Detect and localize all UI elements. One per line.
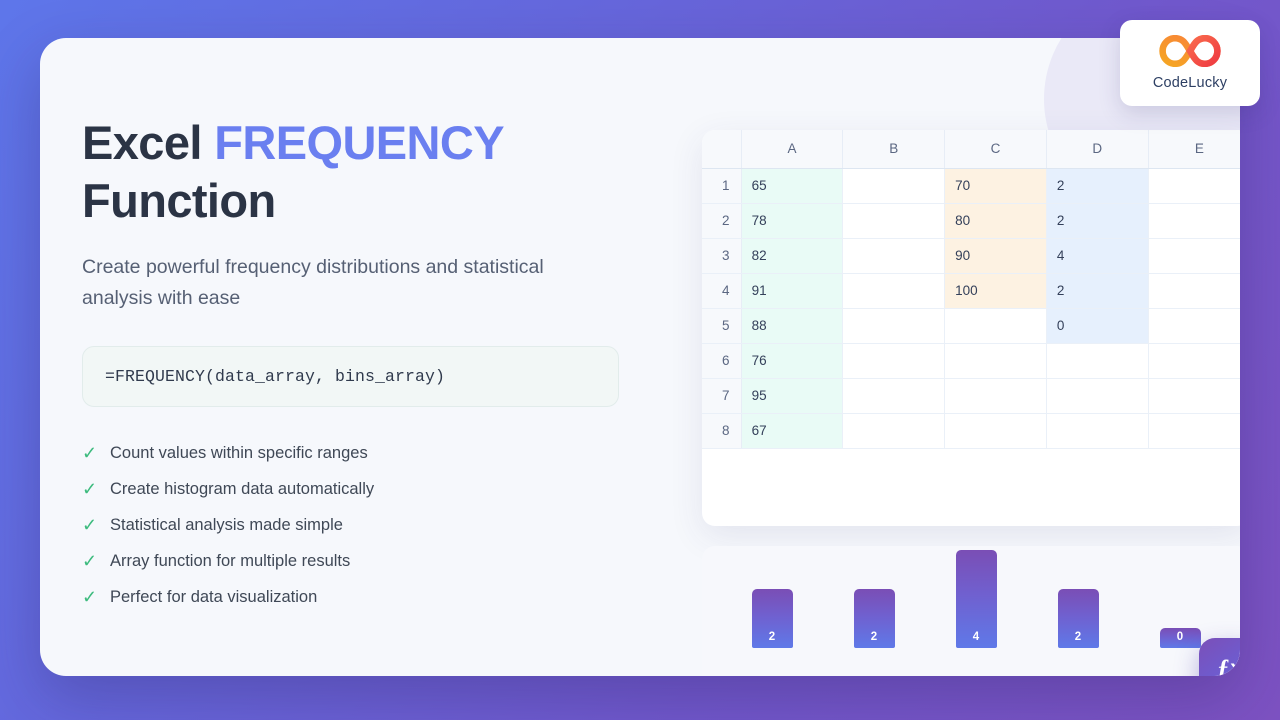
cell-e7[interactable] — [1148, 378, 1240, 413]
column-header-d[interactable]: D — [1046, 130, 1148, 168]
cell-a3[interactable]: 82 — [741, 238, 843, 273]
cell-c6[interactable] — [945, 343, 1047, 378]
table-row: 4 91 100 2 — [702, 273, 1240, 308]
row-header[interactable]: 5 — [702, 308, 741, 343]
feature-label: Statistical analysis made simple — [110, 516, 343, 535]
cell-e5[interactable] — [1148, 308, 1240, 343]
brand-badge[interactable]: CodeLucky — [1120, 20, 1260, 106]
cell-d2[interactable]: 2 — [1046, 203, 1148, 238]
cell-c8[interactable] — [945, 413, 1047, 448]
check-icon: ✓ — [82, 552, 96, 570]
chart-bar[interactable]: 2 — [854, 589, 895, 648]
cell-a1[interactable]: 65 — [741, 168, 843, 203]
cell-b8[interactable] — [843, 413, 945, 448]
chart-bar[interactable]: 4 — [956, 550, 997, 648]
table-row: 7 95 — [702, 378, 1240, 413]
row-header[interactable]: 8 — [702, 413, 741, 448]
feature-item-1: ✓ Count values within specific ranges — [82, 435, 662, 471]
cell-c5[interactable] — [945, 308, 1047, 343]
cell-c7[interactable] — [945, 378, 1047, 413]
feature-label: Count values within specific ranges — [110, 444, 368, 463]
fx-f-glyph: ƒ — [1217, 656, 1230, 676]
sheet-corner-cell[interactable] — [702, 130, 741, 168]
column-header-a[interactable]: A — [741, 130, 843, 168]
row-header[interactable]: 3 — [702, 238, 741, 273]
column-header-e[interactable]: E — [1148, 130, 1240, 168]
table-row: 1 65 70 2 — [702, 168, 1240, 203]
infinity-logo-icon — [1159, 35, 1221, 72]
hero-subtitle: Create powerful frequency distributions … — [82, 252, 612, 314]
cell-e3[interactable] — [1148, 238, 1240, 273]
cell-d6[interactable] — [1046, 343, 1148, 378]
bar-value-label: 2 — [1058, 631, 1099, 643]
cell-b4[interactable] — [843, 273, 945, 308]
table-row: 8 67 — [702, 413, 1240, 448]
cell-a4[interactable]: 91 — [741, 273, 843, 308]
check-icon: ✓ — [82, 480, 96, 498]
feature-label: Array function for multiple results — [110, 552, 350, 571]
cell-d8[interactable] — [1046, 413, 1148, 448]
column-header-c[interactable]: C — [945, 130, 1047, 168]
row-header[interactable]: 4 — [702, 273, 741, 308]
cell-d5[interactable]: 0 — [1046, 308, 1148, 343]
cell-d4[interactable]: 2 — [1046, 273, 1148, 308]
feature-item-3: ✓ Statistical analysis made simple — [82, 507, 662, 543]
check-icon: ✓ — [82, 444, 96, 462]
feature-item-2: ✓ Create histogram data automatically — [82, 471, 662, 507]
page-title-rest: Function — [82, 174, 276, 227]
spreadsheet-table[interactable]: A B C D E 1 65 70 2 2 78 — [702, 130, 1240, 449]
cell-d3[interactable]: 4 — [1046, 238, 1148, 273]
bar-value-label: 2 — [752, 631, 793, 643]
page-title-plain: Excel — [82, 116, 214, 169]
column-header-row: A B C D E — [702, 130, 1240, 168]
table-row: 3 82 90 4 — [702, 238, 1240, 273]
cell-a2[interactable]: 78 — [741, 203, 843, 238]
cell-c2[interactable]: 80 — [945, 203, 1047, 238]
cell-b3[interactable] — [843, 238, 945, 273]
cell-e8[interactable] — [1148, 413, 1240, 448]
histogram-chart-panel: 2 2 4 2 0 — [702, 546, 1240, 676]
cell-e2[interactable] — [1148, 203, 1240, 238]
hero-text-column: Excel FREQUENCYFunction Create powerful … — [82, 114, 662, 615]
row-header[interactable]: 1 — [702, 168, 741, 203]
brand-name: CodeLucky — [1153, 75, 1227, 91]
formula-code-box: =FREQUENCY(data_array, bins_array) — [82, 346, 619, 407]
chart-plot-area: 2 2 4 2 0 — [702, 550, 1240, 648]
chart-bar[interactable]: 2 — [1058, 589, 1099, 648]
cell-e4[interactable] — [1148, 273, 1240, 308]
spreadsheet-panel[interactable]: A B C D E 1 65 70 2 2 78 — [702, 130, 1240, 526]
cell-a5[interactable]: 88 — [741, 308, 843, 343]
cell-e6[interactable] — [1148, 343, 1240, 378]
fx-x-glyph: x — [1230, 658, 1240, 676]
feature-item-5: ✓ Perfect for data visualization — [82, 579, 662, 615]
cell-d7[interactable] — [1046, 378, 1148, 413]
cell-b2[interactable] — [843, 203, 945, 238]
page-title: Excel FREQUENCYFunction — [82, 114, 662, 230]
table-row: 2 78 80 2 — [702, 203, 1240, 238]
table-row: 6 76 — [702, 343, 1240, 378]
chart-bar[interactable]: 2 — [752, 589, 793, 648]
column-header-b[interactable]: B — [843, 130, 945, 168]
table-row: 5 88 0 — [702, 308, 1240, 343]
bar-value-label: 4 — [956, 631, 997, 643]
cell-b7[interactable] — [843, 378, 945, 413]
cell-b1[interactable] — [843, 168, 945, 203]
check-icon: ✓ — [82, 516, 96, 534]
hero-card: Excel FREQUENCYFunction Create powerful … — [40, 38, 1240, 676]
page-title-accent: FREQUENCY — [214, 116, 504, 169]
row-header[interactable]: 7 — [702, 378, 741, 413]
cell-b6[interactable] — [843, 343, 945, 378]
row-header[interactable]: 6 — [702, 343, 741, 378]
cell-b5[interactable] — [843, 308, 945, 343]
cell-c1[interactable]: 70 — [945, 168, 1047, 203]
check-icon: ✓ — [82, 588, 96, 606]
feature-label: Create histogram data automatically — [110, 480, 374, 499]
cell-a7[interactable]: 95 — [741, 378, 843, 413]
row-header[interactable]: 2 — [702, 203, 741, 238]
cell-c4[interactable]: 100 — [945, 273, 1047, 308]
bar-value-label: 0 — [1160, 631, 1201, 643]
fx-function-button[interactable]: ƒx — [1199, 638, 1240, 676]
chart-bar[interactable]: 0 — [1160, 628, 1201, 648]
feature-item-4: ✓ Array function for multiple results — [82, 543, 662, 579]
feature-list: ✓ Count values within specific ranges ✓ … — [82, 435, 662, 615]
cell-a6[interactable]: 76 — [741, 343, 843, 378]
bar-value-label: 2 — [854, 631, 895, 643]
cell-a8[interactable]: 67 — [741, 413, 843, 448]
cell-e1[interactable] — [1148, 168, 1240, 203]
cell-d1[interactable]: 2 — [1046, 168, 1148, 203]
feature-label: Perfect for data visualization — [110, 588, 317, 607]
cell-c3[interactable]: 90 — [945, 238, 1047, 273]
